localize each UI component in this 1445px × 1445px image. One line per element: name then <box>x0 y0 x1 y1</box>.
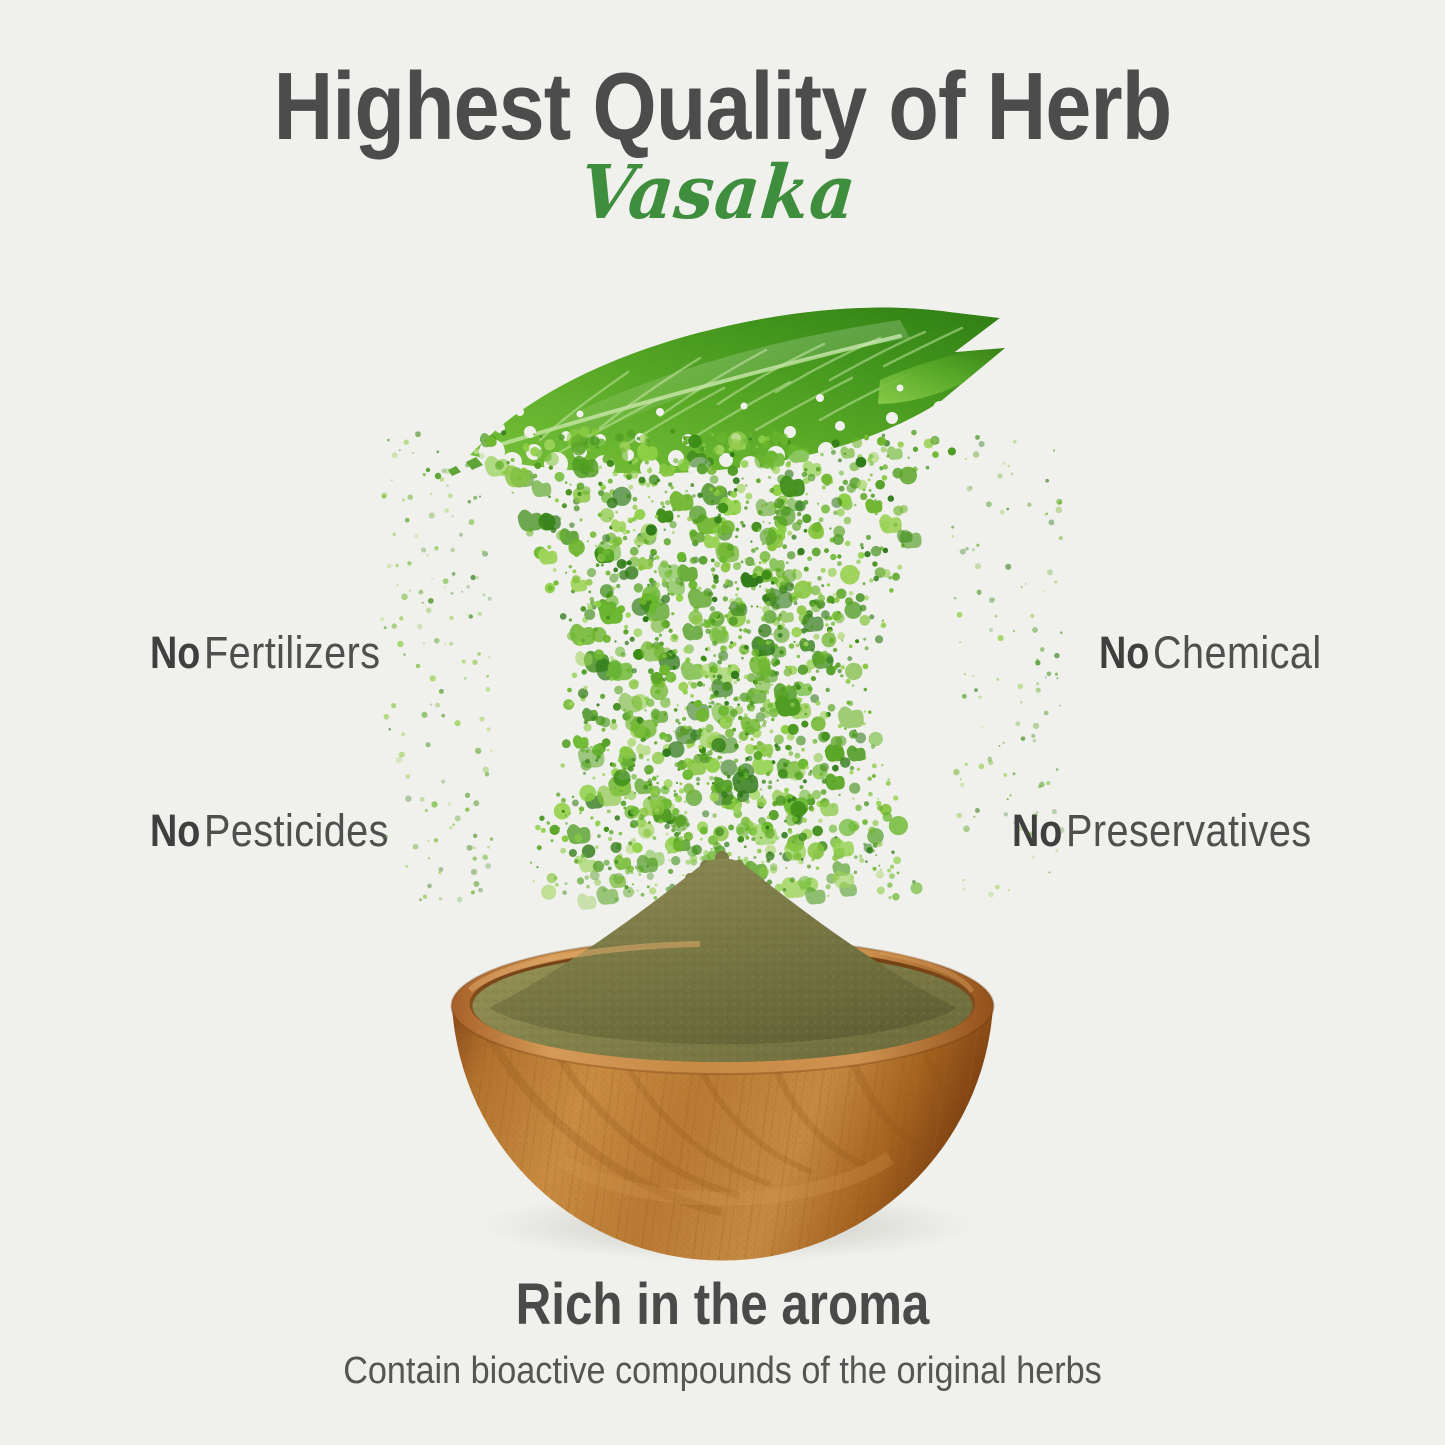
page-title: Highest Quality of Herb <box>101 58 1344 156</box>
footer-subtext: Contain bioactive compounds of the origi… <box>72 1350 1373 1393</box>
feature-no-chemical: NoChemical <box>1099 630 1345 675</box>
feature-prefix: No <box>1012 808 1062 853</box>
poster-canvas: Highest Quality of Herb Vasaka NoFertili… <box>0 0 1445 1445</box>
feature-label: Preservatives <box>1066 808 1312 853</box>
footer-headline: Rich in the aroma <box>108 1271 1336 1338</box>
green-leaf-icon <box>426 307 1030 481</box>
feature-prefix: No <box>150 808 200 853</box>
feature-prefix: No <box>1099 630 1149 675</box>
heading-block: Highest Quality of Herb Vasaka <box>0 58 1445 236</box>
feature-no-fertilizers: NoFertilizers <box>150 630 405 675</box>
powder-particles-icon <box>380 426 1065 911</box>
footer-block: Rich in the aroma Contain bioactive comp… <box>0 1271 1445 1393</box>
feature-no-preservatives: NoPreservatives <box>1012 808 1345 853</box>
bowl-shadow <box>478 1190 978 1262</box>
feature-prefix: No <box>150 630 200 675</box>
feature-label: Fertilizers <box>204 630 380 675</box>
feature-no-pesticides: NoPesticides <box>150 808 414 853</box>
herb-name-script: Vasaka <box>35 150 1402 236</box>
feature-label: Pesticides <box>204 808 389 853</box>
herb-powder-mound-icon <box>487 851 960 1012</box>
feature-label: Chemical <box>1153 630 1322 675</box>
wooden-bowl-icon <box>452 859 994 1261</box>
